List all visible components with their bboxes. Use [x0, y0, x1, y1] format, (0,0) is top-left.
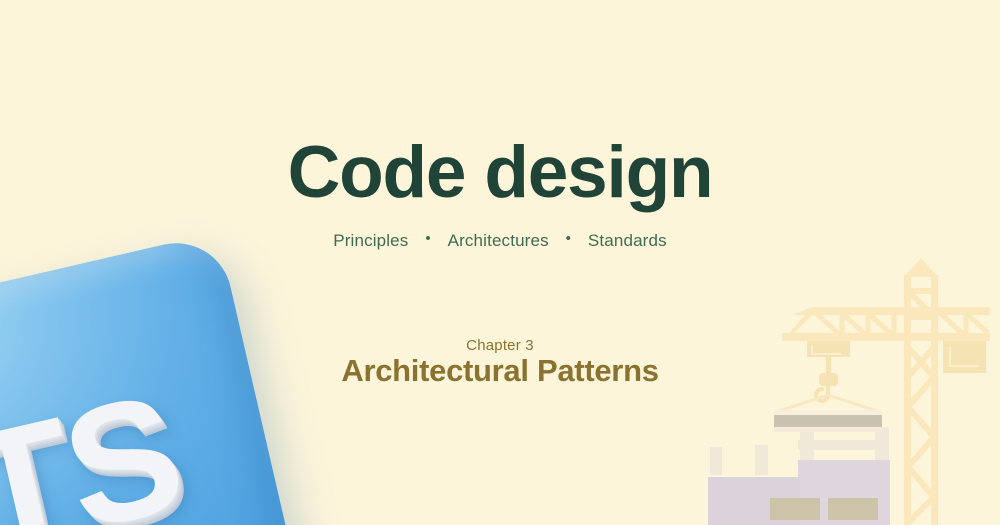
typescript-logo: TS [0, 232, 308, 525]
construction-crane-scene [700, 255, 1000, 525]
crane-hook-and-load [774, 357, 882, 432]
page-title: Code design [0, 136, 1000, 209]
slide-canvas: TS [0, 0, 1000, 525]
subtitle-item-principles: Principles [333, 231, 408, 251]
building-group [708, 427, 890, 525]
crane-jib [782, 307, 990, 341]
subtitle-item-architectures: Architectures [448, 231, 549, 251]
crane-illustration-svg [700, 255, 1000, 525]
typescript-logo-letters: TS [0, 232, 308, 525]
crane-operator-cab [943, 341, 986, 373]
subtitle-item-standards: Standards [588, 231, 667, 251]
subtitle-separator-icon: • [425, 230, 430, 247]
crane-mast [904, 258, 938, 525]
crane-trolley [807, 341, 850, 357]
subtitle-separator-icon: • [566, 230, 571, 247]
